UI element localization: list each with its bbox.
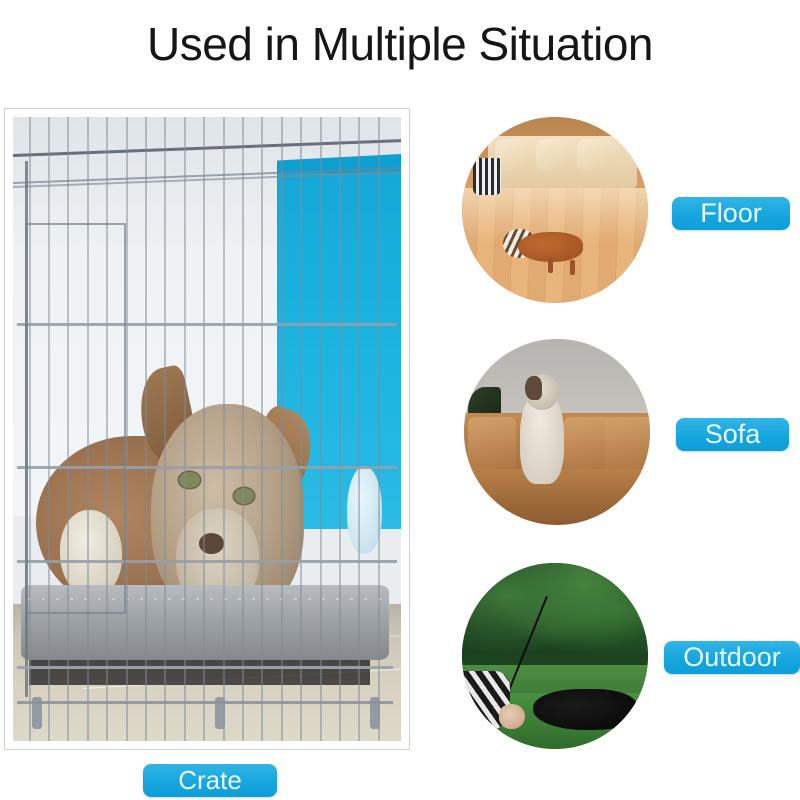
- page-title: Used in Multiple Situation: [0, 14, 800, 74]
- label-crate[interactable]: Crate: [143, 764, 277, 797]
- sofa-cushion-3: [605, 417, 650, 473]
- crate-photo: [13, 117, 401, 741]
- crate-door[interactable]: [25, 223, 126, 614]
- crate-image-panel[interactable]: [4, 108, 410, 750]
- label-sofa[interactable]: Sofa: [676, 418, 789, 451]
- sofa-dog-head-patch: [525, 376, 542, 400]
- crate-wire-frame: [13, 117, 401, 741]
- outdoor-person-hand: [499, 704, 525, 728]
- outdoor-photo: [462, 563, 648, 749]
- floor-photo: [462, 117, 648, 303]
- label-floor[interactable]: Floor: [672, 197, 790, 230]
- sofa-photo: [464, 339, 650, 525]
- situation-sofa[interactable]: [464, 339, 650, 525]
- floor-dog-leg-2: [570, 260, 576, 275]
- sofa-scene: [464, 339, 650, 525]
- floor-sofa-cushion-1: [495, 139, 532, 171]
- label-outdoor[interactable]: Outdoor: [664, 641, 800, 674]
- floor-sofa-cushion-2: [536, 139, 573, 171]
- outdoor-tree-canopy: [462, 563, 648, 671]
- outdoor-dog: [533, 689, 637, 730]
- situation-floor[interactable]: [462, 117, 648, 303]
- outdoor-scene: [462, 563, 648, 749]
- crate-base-rail: [17, 666, 393, 703]
- sofa-cushion-1: [468, 417, 516, 473]
- situation-outdoor[interactable]: [462, 563, 648, 749]
- floor-dog-leg-1: [548, 258, 554, 273]
- floor-sofa-cushion-3: [577, 139, 614, 171]
- floor-striped-basket: [473, 158, 501, 195]
- floor-scene: [462, 117, 648, 303]
